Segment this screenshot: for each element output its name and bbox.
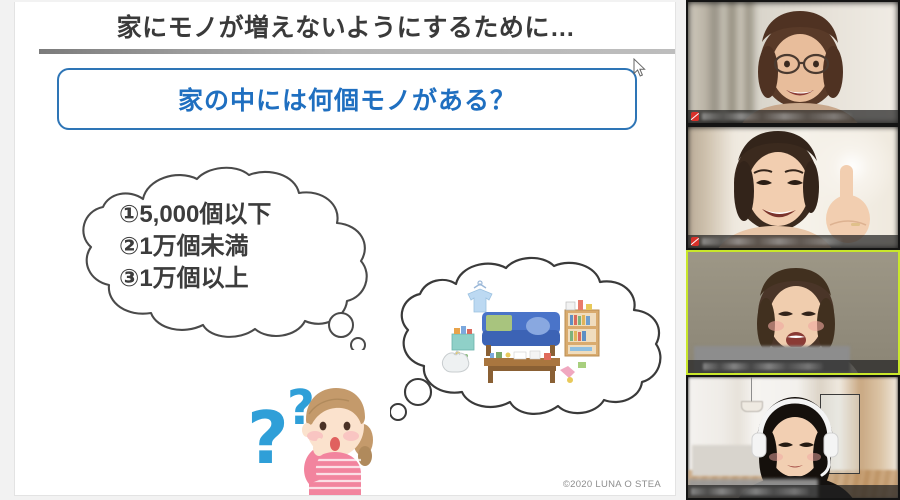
participant-filmstrip[interactable] xyxy=(686,0,900,500)
participant-name-2 xyxy=(702,238,842,245)
mic-muted-icon xyxy=(691,112,699,121)
participant-tile-1[interactable] xyxy=(686,0,900,125)
girl-figure xyxy=(239,374,389,496)
person-figure-1 xyxy=(688,2,898,123)
shared-slide-stage[interactable]: 家にモノが増えないようにするために… 家の中には何個モノがある？ ①5,000個… xyxy=(0,0,686,500)
participant-tile-3[interactable] xyxy=(686,250,900,375)
question-box: 家の中には何個モノがある？ xyxy=(57,68,637,130)
participant-name-3 xyxy=(703,363,823,370)
person-figure-2 xyxy=(688,127,898,248)
answer-thought-cloud: ①5,000個以下 ②1万個未満 ③1万個以上 xyxy=(73,165,383,350)
mic-muted-icon xyxy=(691,237,699,246)
participant-namebar-3 xyxy=(688,360,898,373)
cloud-outline-right xyxy=(390,254,675,424)
participant-name-1 xyxy=(702,113,852,120)
answer-option-3: ③1万個以上 xyxy=(119,263,271,295)
participant-tile-2[interactable] xyxy=(686,125,900,250)
participant-video-1 xyxy=(688,2,898,123)
answer-option-1: ①5,000個以下 xyxy=(119,199,271,231)
participant-namebar-2 xyxy=(688,235,898,248)
participant-video-3 xyxy=(688,252,898,373)
title-divider-rule xyxy=(39,49,676,54)
presentation-slide: 家にモノが増えないようにするために… 家の中には何個モノがある？ ①5,000個… xyxy=(14,2,676,496)
raised-index-finger xyxy=(826,165,870,243)
participant-name-4 xyxy=(691,488,809,495)
answer-options: ①5,000個以下 ②1万個未満 ③1万個以上 xyxy=(119,199,271,295)
participant-tile-4[interactable] xyxy=(686,375,900,500)
thinking-girl-illustration: ? ? xyxy=(239,374,389,496)
slide-title: 家にモノが増えないようにするために… xyxy=(15,8,676,44)
question-box-text: 家の中には何個モノがある？ xyxy=(178,81,516,117)
answer-option-2: ②1万個未満 xyxy=(119,231,271,263)
room-thought-cloud xyxy=(390,254,675,424)
participant-video-2 xyxy=(688,127,898,248)
participant-video-4 xyxy=(688,377,898,498)
copyright-text: ©2020 LUNA O STEA xyxy=(563,479,661,490)
participant-namebar-1 xyxy=(688,110,898,123)
participant-namebar-4 xyxy=(688,485,898,498)
screen-share-window: 家にモノが増えないようにするために… 家の中には何個モノがある？ ①5,000個… xyxy=(0,0,900,500)
